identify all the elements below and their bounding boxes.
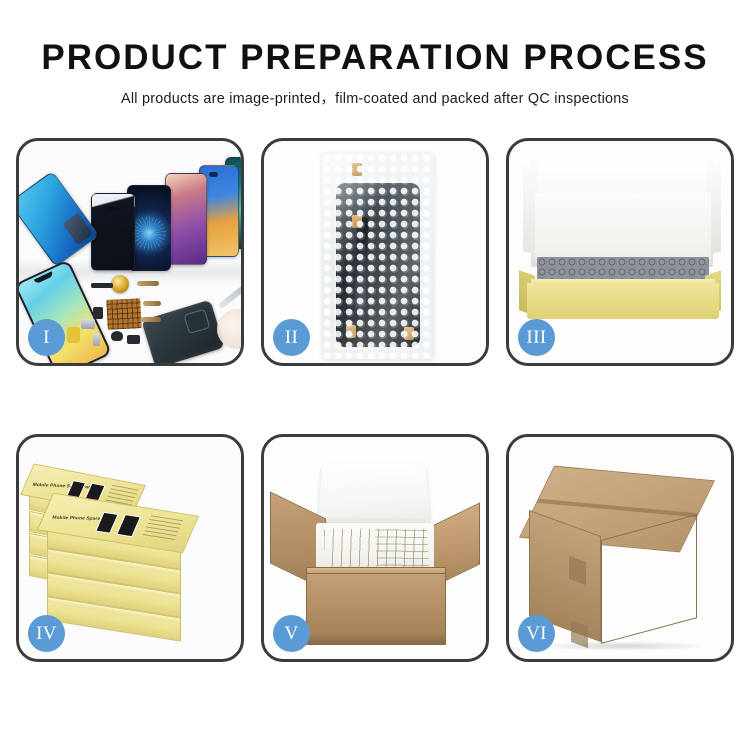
product-process-page: PRODUCT PREPARATION PROCESS All products… (0, 0, 750, 750)
small-part (81, 319, 95, 329)
box-spec-lines (142, 515, 184, 543)
step-badge-4: IV (28, 615, 65, 652)
chip-grid-part (106, 298, 142, 330)
flex-cable-part (137, 281, 159, 286)
step-badge-1: I (28, 319, 65, 356)
box-front-yellow (527, 283, 719, 319)
small-part (93, 307, 103, 319)
bubble-wrap-bag (322, 153, 434, 359)
box-screen-image (116, 514, 141, 537)
screen-protector-glass (91, 193, 135, 271)
process-step-3[interactable]: III (506, 138, 734, 366)
yellow-boxes-inside (375, 526, 429, 573)
step-badge-3: III (518, 319, 555, 356)
small-part (93, 333, 100, 346)
flex-cable-part (143, 301, 161, 306)
page-title: PRODUCT PREPARATION PROCESS (0, 38, 750, 78)
foam-lid (317, 463, 431, 528)
small-part (127, 335, 140, 344)
foam-liner (535, 193, 711, 259)
page-header: PRODUCT PREPARATION PROCESS All products… (0, 0, 750, 108)
page-subtitle: All products are image-printed，film-coat… (0, 87, 750, 108)
speaker-coil-part (111, 275, 129, 293)
process-step-5[interactable]: V (261, 434, 489, 662)
small-part (67, 327, 80, 343)
process-step-6[interactable]: VI (506, 434, 734, 662)
flex-cable-part (141, 317, 161, 322)
small-part (111, 331, 123, 341)
process-steps-grid: I II (16, 138, 734, 662)
carton-body (306, 573, 446, 645)
small-part (91, 283, 113, 288)
process-step-1[interactable]: I (16, 138, 244, 366)
step-badge-2: II (273, 319, 310, 356)
step-badge-6: VI (518, 615, 555, 652)
phone-purple (165, 173, 207, 265)
process-step-4[interactable]: Mobile Phone Spare Parts Mobile Phone Sp… (16, 434, 244, 662)
process-step-2[interactable]: II (261, 138, 489, 366)
step-badge-5: V (273, 615, 310, 652)
